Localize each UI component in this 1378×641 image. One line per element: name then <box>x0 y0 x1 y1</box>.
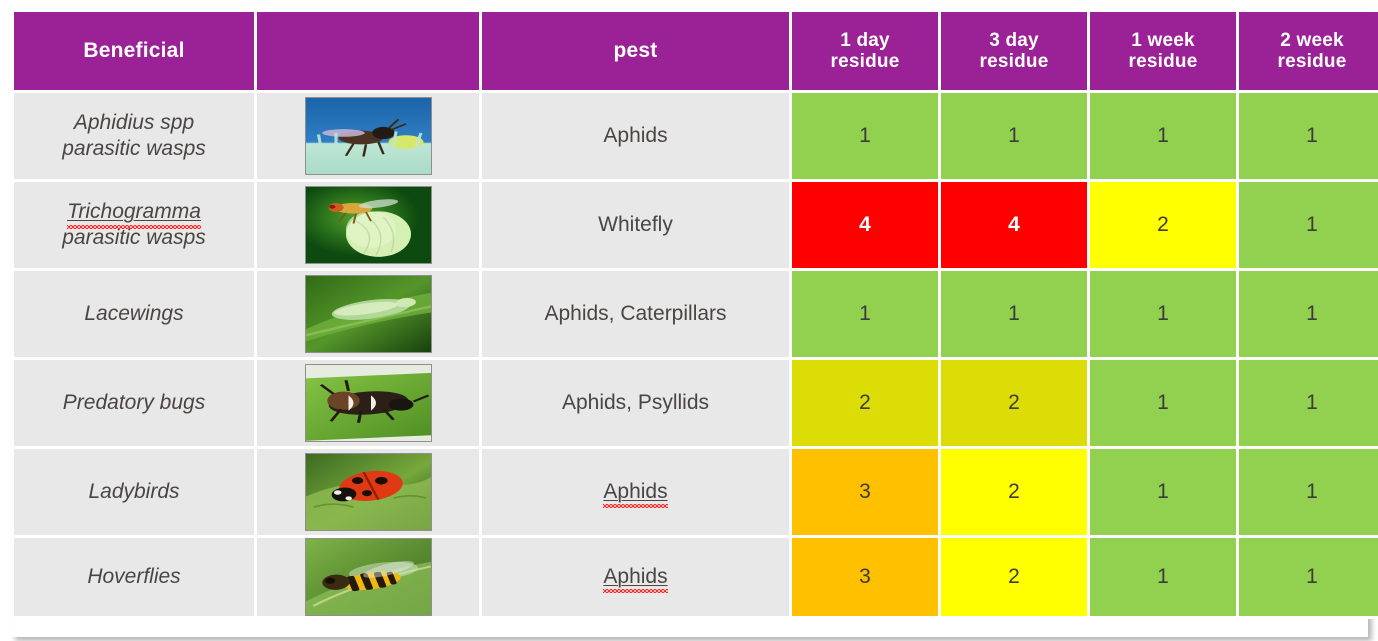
misspelled-word: Trichogramma <box>67 199 201 225</box>
header-line-top: 3 day <box>989 30 1039 51</box>
hoverfly-on-leaf-photo <box>305 538 432 616</box>
trichogramma-wasp-on-egg-photo <box>305 186 432 264</box>
residue-2week-cell[interactable]: 1 <box>1239 449 1378 535</box>
header-line-top: 1 week <box>1131 30 1195 51</box>
residue-3day-cell[interactable]: 4 <box>941 182 1087 268</box>
predatory-bug-on-leaf-photo <box>305 364 432 442</box>
table-root: Beneficial pest 1 day residue 3 day resi… <box>0 0 1378 641</box>
table-row: Lacewings Aphids, Caterpillars1111 <box>14 271 1378 357</box>
beneficial-photo-cell[interactable] <box>257 538 479 616</box>
pest-name-cell[interactable]: Aphids <box>482 93 789 179</box>
residue-1day-cell[interactable]: 3 <box>792 538 938 616</box>
lacewing-larva-on-leaf-photo <box>305 275 432 353</box>
header-row: Beneficial pest 1 day residue 3 day resi… <box>14 12 1378 90</box>
header-line-bottom: residue <box>1278 51 1347 72</box>
beneficial-photo-cell[interactable] <box>257 182 479 268</box>
pest-name-cell[interactable]: Aphids <box>482 449 789 535</box>
residue-1day-cell[interactable]: 3 <box>792 449 938 535</box>
residue-2week-cell[interactable]: 1 <box>1239 538 1378 616</box>
beneficial-photo-cell[interactable] <box>257 449 479 535</box>
beneficial-name-cell[interactable]: Trichogrammaparasitic wasps <box>14 182 254 268</box>
residue-1week-cell[interactable]: 1 <box>1090 93 1236 179</box>
residue-1day-cell[interactable]: 4 <box>792 182 938 268</box>
column-header-3-day-residue[interactable]: 3 day residue <box>941 12 1087 90</box>
table-row: Aphidius sppparasitic wasps Aphids1111 <box>14 93 1378 179</box>
pest-name-cell[interactable]: Aphids <box>482 538 789 616</box>
beneficial-name-cell[interactable]: Predatory bugs <box>14 360 254 446</box>
residue-2week-cell[interactable]: 1 <box>1239 360 1378 446</box>
header-line-bottom: residue <box>1129 51 1198 72</box>
header-line-top: 2 week <box>1280 30 1344 51</box>
column-header-image[interactable] <box>257 12 479 90</box>
residue-3day-cell[interactable]: 2 <box>941 538 1087 616</box>
pest-name-cell[interactable]: Aphids, Caterpillars <box>482 271 789 357</box>
residue-3day-cell[interactable]: 2 <box>941 449 1087 535</box>
residue-2week-cell[interactable]: 1 <box>1239 182 1378 268</box>
column-header-pest[interactable]: pest <box>482 12 789 90</box>
beneficial-name-cell[interactable]: Ladybirds <box>14 449 254 535</box>
residue-1week-cell[interactable]: 1 <box>1090 538 1236 616</box>
column-header-beneficial[interactable]: Beneficial <box>14 12 254 90</box>
beneficial-photo-cell[interactable] <box>257 271 479 357</box>
beneficial-name-cell[interactable]: Hoverflies <box>14 538 254 616</box>
column-header-2-week-residue[interactable]: 2 week residue <box>1239 12 1378 90</box>
table-body: Aphidius sppparasitic wasps Aphids1111Tr… <box>14 93 1378 616</box>
residue-1day-cell[interactable]: 1 <box>792 271 938 357</box>
residue-1week-cell[interactable]: 1 <box>1090 449 1236 535</box>
beneficial-pesticide-residue-table: Beneficial pest 1 day residue 3 day resi… <box>11 9 1378 619</box>
residue-1week-cell[interactable]: 1 <box>1090 271 1236 357</box>
beneficial-photo-cell[interactable] <box>257 360 479 446</box>
residue-1day-cell[interactable]: 2 <box>792 360 938 446</box>
table-row: Trichogrammaparasitic wasps Whitefly4421 <box>14 182 1378 268</box>
misspelled-word: Aphids <box>603 480 667 504</box>
pest-name-cell[interactable]: Whitefly <box>482 182 789 268</box>
residue-1week-cell[interactable]: 1 <box>1090 360 1236 446</box>
residue-1week-cell[interactable]: 2 <box>1090 182 1236 268</box>
residue-3day-cell[interactable]: 2 <box>941 360 1087 446</box>
header-line-bottom: residue <box>980 51 1049 72</box>
beneficial-name-cell[interactable]: Lacewings <box>14 271 254 357</box>
beneficial-name-cell[interactable]: Aphidius sppparasitic wasps <box>14 93 254 179</box>
table-row: Hoverflies Aphids3211 <box>14 538 1378 616</box>
misspelled-word: Aphids <box>603 565 667 589</box>
residue-1day-cell[interactable]: 1 <box>792 93 938 179</box>
header-line-bottom: residue <box>831 51 900 72</box>
pest-name-cell[interactable]: Aphids, Psyllids <box>482 360 789 446</box>
residue-2week-cell[interactable]: 1 <box>1239 271 1378 357</box>
parasitic-wasp-on-aphid-photo <box>305 97 432 175</box>
column-header-1-week-residue[interactable]: 1 week residue <box>1090 12 1236 90</box>
table-row: Predatory bugs Aphids, Psyllids2211 <box>14 360 1378 446</box>
ladybird-on-leaf-photo <box>305 453 432 531</box>
residue-3day-cell[interactable]: 1 <box>941 271 1087 357</box>
residue-3day-cell[interactable]: 1 <box>941 93 1087 179</box>
header-line-top: 1 day <box>840 30 890 51</box>
table-header: Beneficial pest 1 day residue 3 day resi… <box>14 12 1378 90</box>
beneficial-photo-cell[interactable] <box>257 93 479 179</box>
residue-2week-cell[interactable]: 1 <box>1239 93 1378 179</box>
column-header-1-day-residue[interactable]: 1 day residue <box>792 12 938 90</box>
table-row: Ladybirds Aphids3211 <box>14 449 1378 535</box>
